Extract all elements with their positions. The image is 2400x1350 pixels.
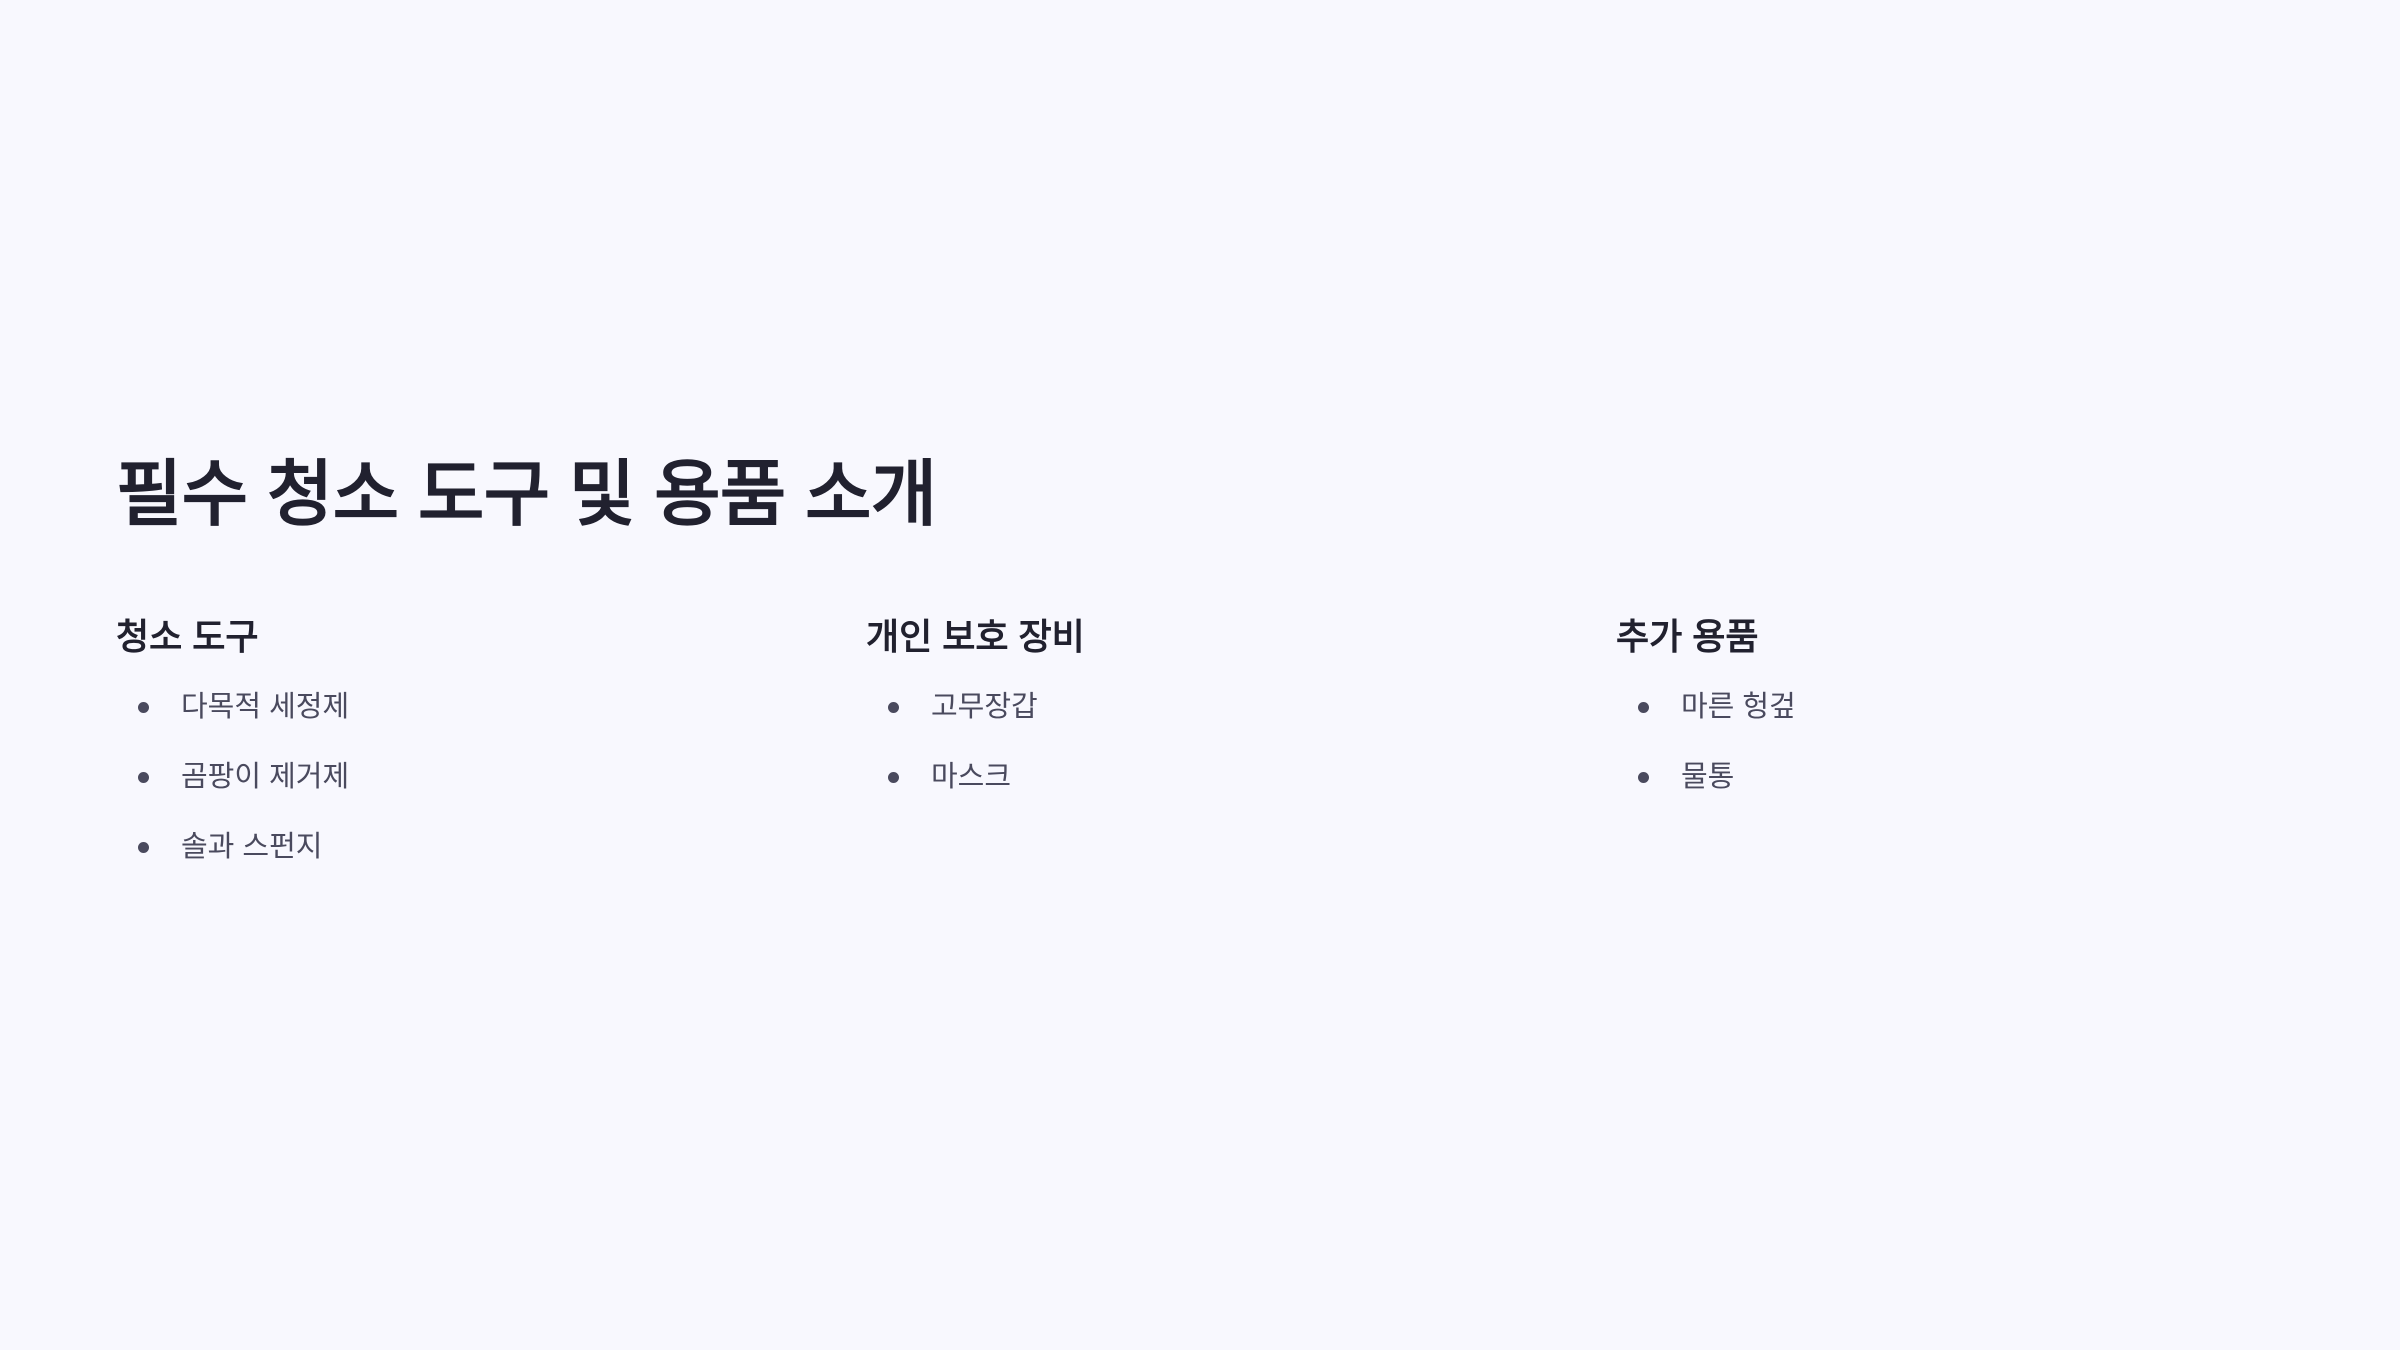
item-list: 마른 헝겊 물통	[1616, 687, 2266, 827]
list-item: 마스크	[866, 757, 1576, 827]
list-item: 솔과 스펀지	[116, 827, 826, 897]
list-item-label: 솔과 스펀지	[181, 827, 322, 867]
list-item: 물통	[1616, 757, 2266, 827]
item-list: 고무장갑 마스크	[866, 687, 1576, 827]
page-title: 필수 청소 도구 및 용품 소개	[116, 452, 937, 540]
list-item: 곰팡이 제거제	[116, 757, 826, 827]
item-list: 다목적 세정제 곰팡이 제거제 솔과 스펀지	[116, 687, 826, 897]
list-item-label: 마른 헝겊	[1681, 687, 1796, 727]
column-heading: 개인 보호 장비	[866, 614, 1576, 659]
list-item-label: 곰팡이 제거제	[181, 757, 349, 797]
bullet-icon	[138, 842, 149, 853]
column-personal-protective-equipment: 개인 보호 장비 고무장갑 마스크	[866, 614, 1616, 897]
bullet-icon	[888, 702, 899, 713]
bullet-icon	[1638, 702, 1649, 713]
bullet-icon	[138, 772, 149, 783]
list-item: 다목적 세정제	[116, 687, 826, 757]
bullet-icon	[138, 702, 149, 713]
bullet-icon	[1638, 772, 1649, 783]
list-item-label: 마스크	[931, 757, 1011, 797]
list-item-label: 고무장갑	[931, 687, 1038, 727]
list-item: 고무장갑	[866, 687, 1576, 757]
list-item: 마른 헝겊	[1616, 687, 2266, 757]
list-item-label: 다목적 세정제	[181, 687, 349, 727]
slide-canvas: 필수 청소 도구 및 용품 소개 청소 도구 다목적 세정제 곰팡이 제거제 솔…	[0, 0, 2400, 1350]
list-item-label: 물통	[1681, 757, 1734, 797]
column-heading: 청소 도구	[116, 614, 826, 659]
columns-container: 청소 도구 다목적 세정제 곰팡이 제거제 솔과 스펀지 개인 보호 장비	[116, 614, 2306, 897]
bullet-icon	[888, 772, 899, 783]
column-additional-supplies: 추가 용품 마른 헝겊 물통	[1616, 614, 2306, 897]
column-cleaning-tools: 청소 도구 다목적 세정제 곰팡이 제거제 솔과 스펀지	[116, 614, 866, 897]
column-heading: 추가 용품	[1616, 614, 2266, 659]
